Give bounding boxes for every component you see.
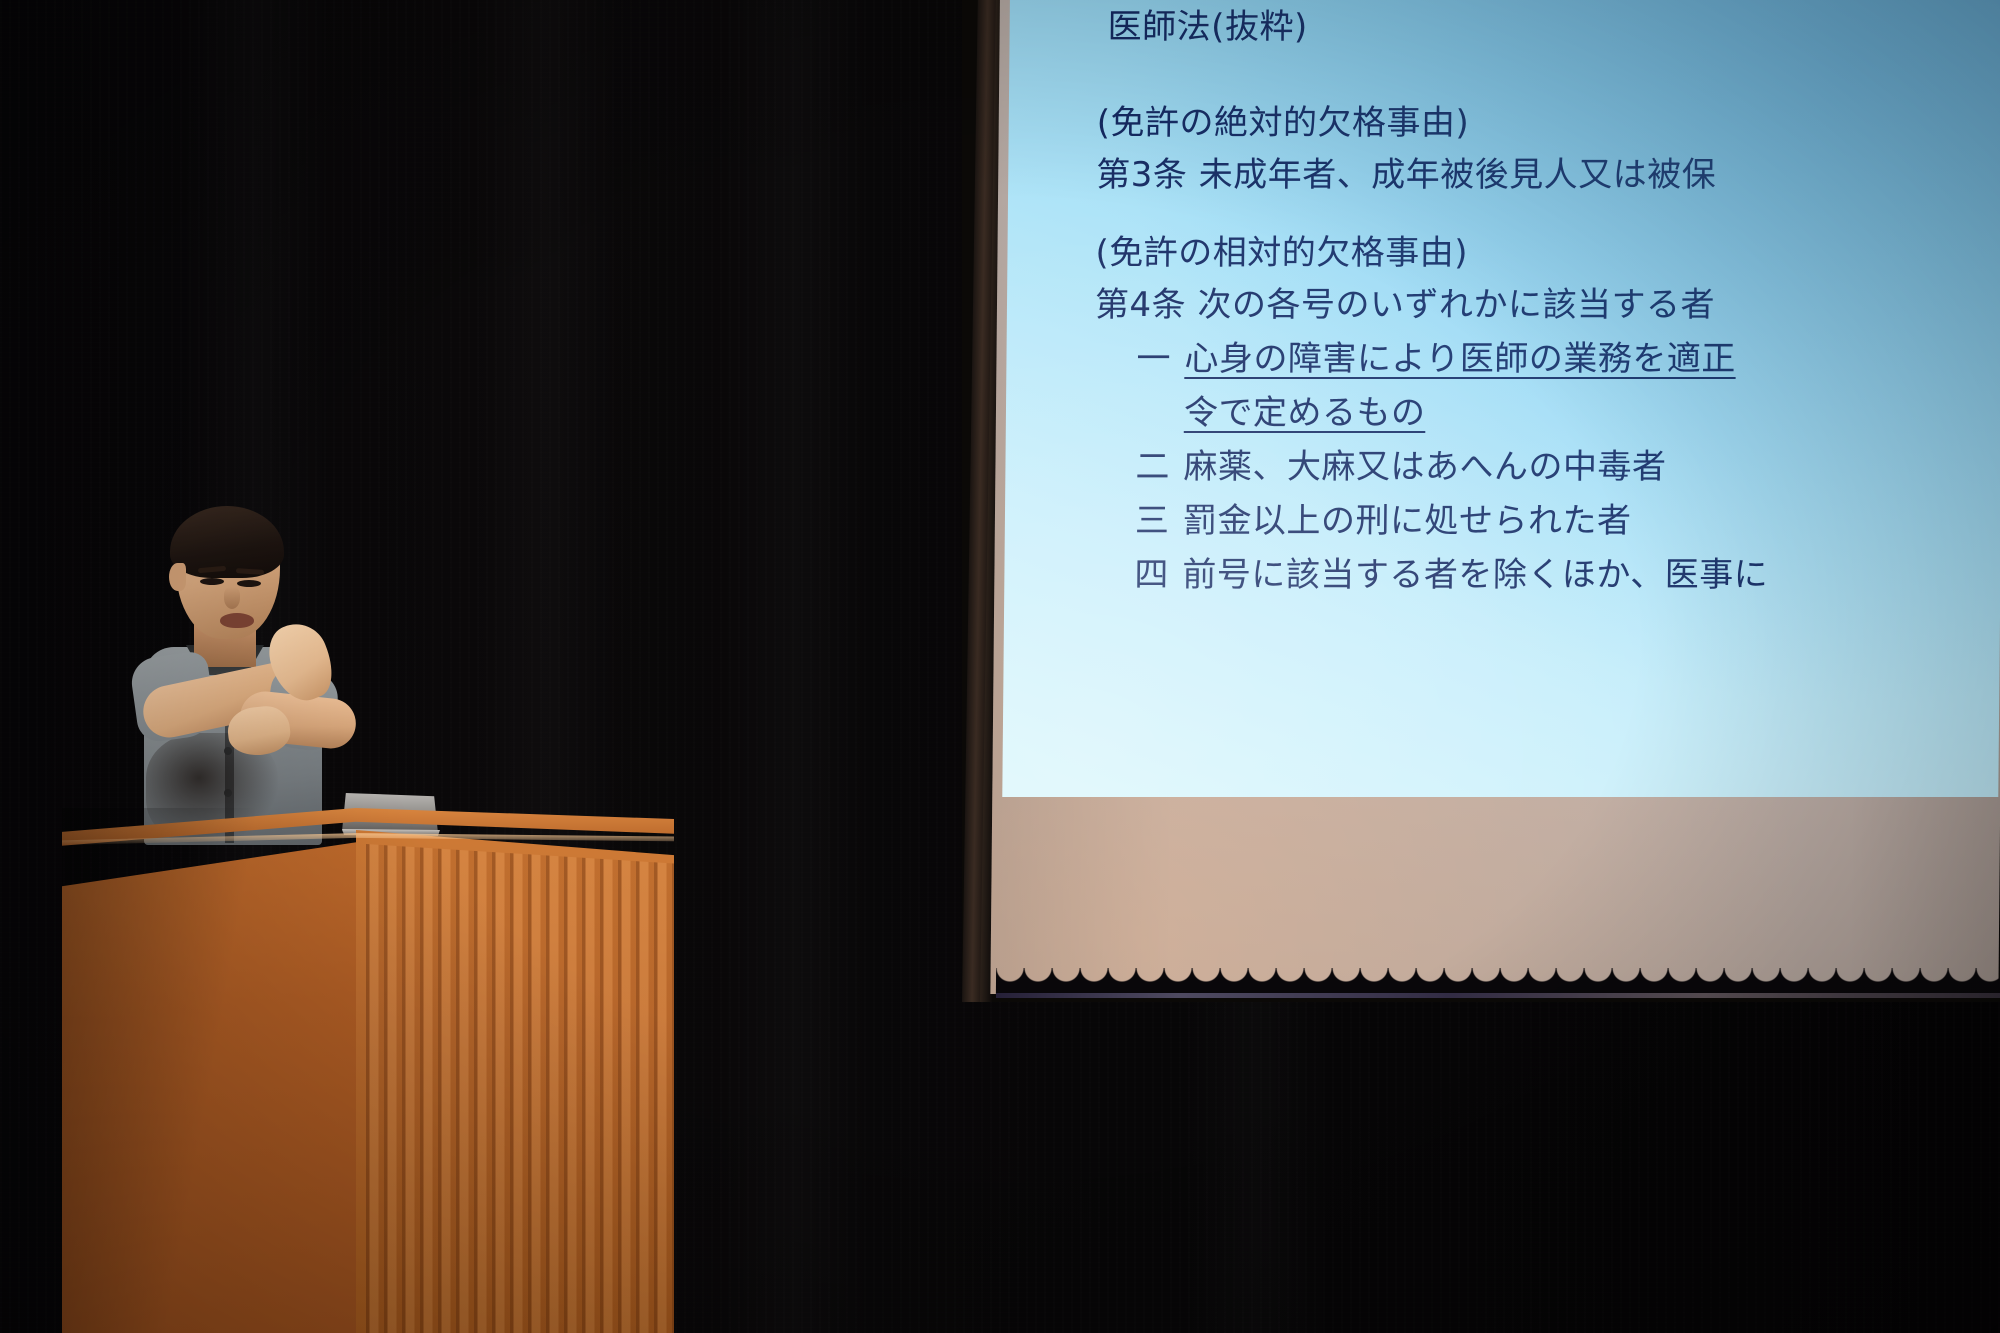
slide-list-item-2: 二 麻薬、大麻又はあへんの中毒者 [1135, 450, 2000, 484]
slide-list-text-1: 心身の障害により医師の業務を適正 [1184, 342, 1736, 376]
slide-list-item-1-continuation: 令で定めるもの [1184, 396, 2000, 430]
slide-list-item-4: 四 前号に該当する者を除くほか、医事に [1134, 558, 2000, 592]
projection-screen: 医師法(抜粋) (免許の絶対的欠格事由) 第3条 未成年者、成年被後見人又は被保… [962, 0, 2000, 1002]
slide-list-item-3: 三 罰金以上の刑に処せられた者 [1135, 504, 2000, 538]
speaker-ear [169, 563, 186, 591]
speaker-hair [170, 506, 284, 578]
slide-section-heading-relative: (免許の相対的欠格事由) [1095, 236, 2000, 270]
slide-article-3: 第3条 未成年者、成年被後見人又は被保 [1096, 158, 2000, 192]
presentation-photo-scene: 医師法(抜粋) (免許の絶対的欠格事由) 第3条 未成年者、成年被後見人又は被保… [0, 0, 2000, 1333]
screen-bottom-scallop [996, 968, 2000, 994]
slide-article-4: 第4条 次の各号のいずれかに該当する者 [1095, 288, 2000, 322]
projected-slide: 医師法(抜粋) (免許の絶対的欠格事由) 第3条 未成年者、成年被後見人又は被保… [1002, 0, 2000, 797]
speaker-mouth [220, 613, 254, 628]
podium-left-panel [62, 842, 358, 1333]
slide-spacer [1087, 44, 2000, 106]
slide-section-heading-absolute: (免許の絶対的欠格事由) [1097, 106, 2000, 140]
slide-list-number-3: 三 [1135, 504, 1165, 538]
screen-bottom-trim [996, 993, 2000, 998]
wooden-podium [62, 808, 674, 1333]
slide-list-number-1: 一 [1136, 342, 1166, 376]
slide-list-text-2: 麻薬、大麻又はあへんの中毒者 [1183, 450, 1666, 484]
speaker-nose [224, 587, 240, 609]
slide-list-number-2: 二 [1135, 450, 1165, 484]
podium-slat-detail [366, 844, 674, 1333]
slide-spacer [1086, 192, 2000, 236]
slide-list-item-1: 一 心身の障害により医師の業務を適正 [1136, 342, 2000, 376]
speaker-eye-right [237, 580, 261, 587]
curtain-fold [720, 0, 870, 1333]
slide-list-text-3: 罰金以上の刑に処せられた者 [1183, 504, 1632, 538]
slide-list-text-4: 前号に該当する者を除くほか、医事に [1182, 558, 1768, 592]
slide-list-number-4: 四 [1134, 558, 1164, 592]
speaker-figure [120, 495, 420, 840]
curtain-fold [1180, 1000, 1330, 1333]
speaker-eye-left [200, 578, 224, 585]
slide-title: 医師法(抜粋) [1108, 10, 2000, 44]
